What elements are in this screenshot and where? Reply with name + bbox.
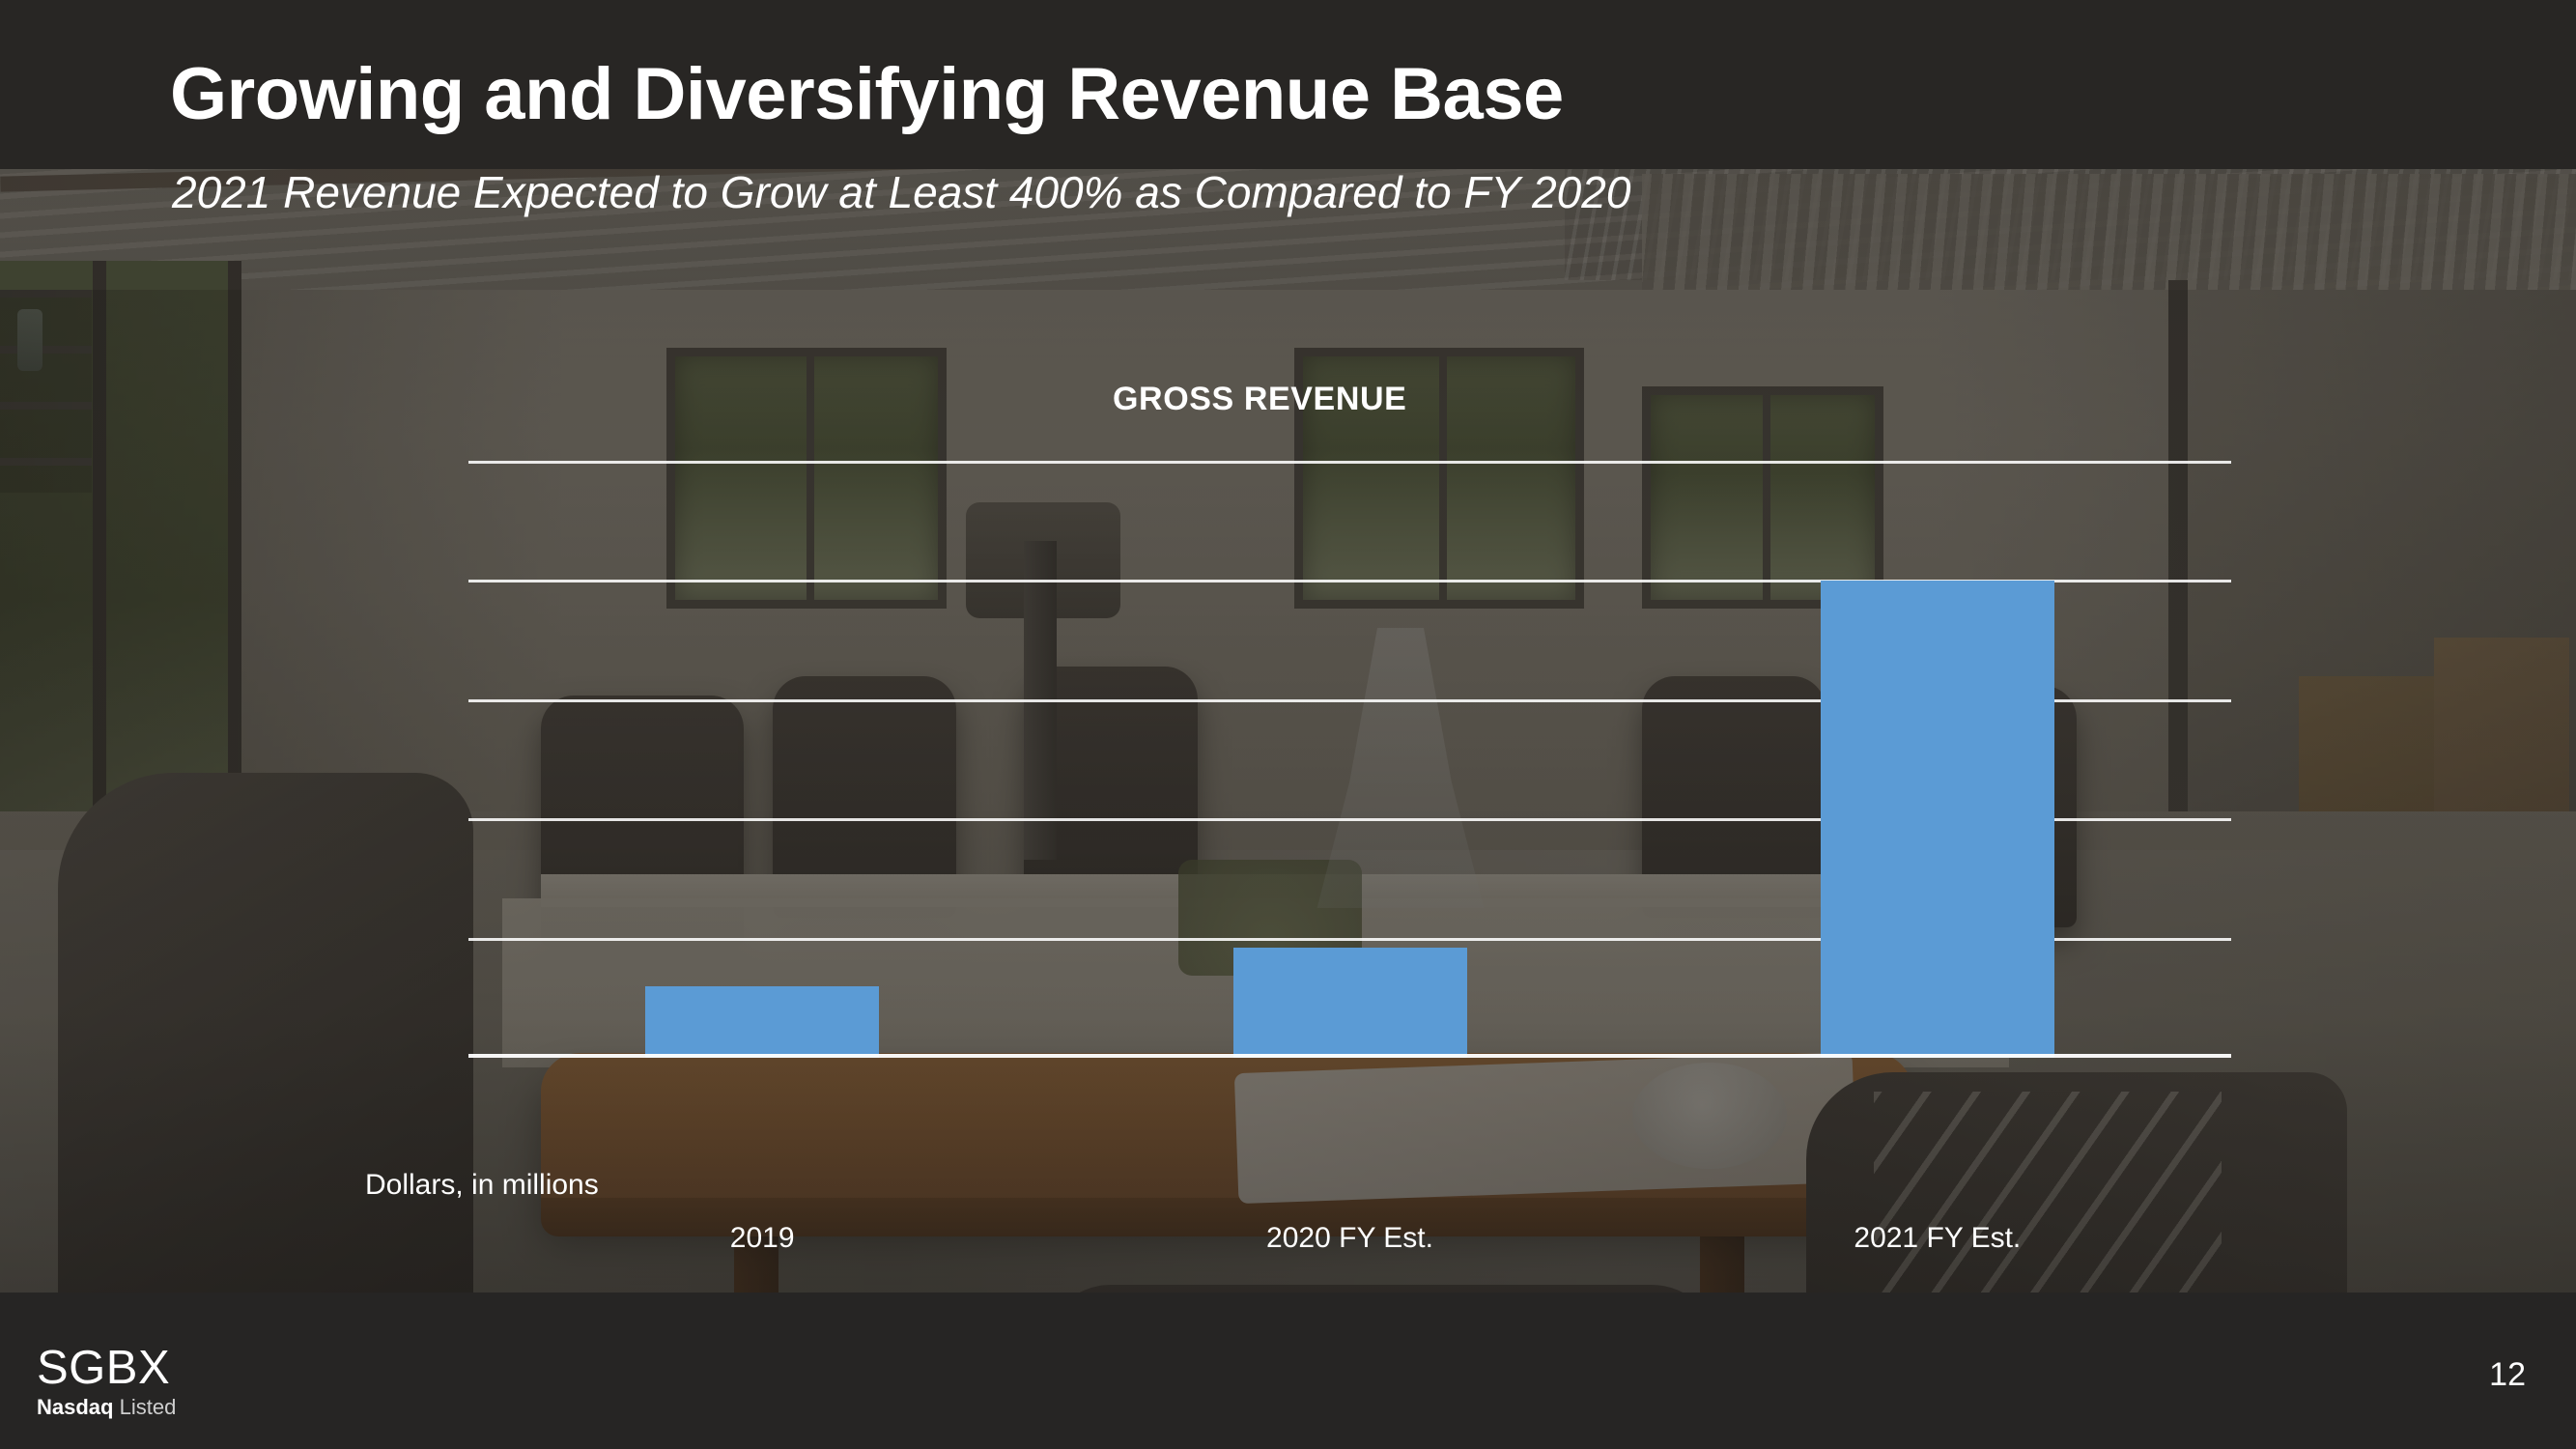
logo-listing: Listed <box>120 1395 177 1419</box>
chart-baseline-axis <box>468 1054 2231 1058</box>
x-tick-label: 2019 <box>730 1222 795 1255</box>
bar-2019[interactable] <box>645 986 879 1058</box>
slide: Growing and Diversifying Revenue Base 20… <box>0 0 2576 1449</box>
slide-content: Growing and Diversifying Revenue Base 20… <box>0 0 2576 1449</box>
x-tick-label: 2020 FY Est. <box>1266 1222 1433 1255</box>
logo-exchange: Nasdaq <box>37 1395 113 1419</box>
bar-2021-fy-est-[interactable] <box>1821 581 2054 1058</box>
company-logo: SGBX Nasdaq Listed <box>37 1345 176 1420</box>
x-tick-label: 2021 FY Est. <box>1854 1222 2021 1255</box>
page-title: Growing and Diversifying Revenue Base <box>170 58 1564 131</box>
logo-ticker: SGBX <box>37 1345 176 1391</box>
chart-units-note: Dollars, in millions <box>365 1169 599 1202</box>
gross-revenue-bar-chart: GROSS REVENUE $25$20$15$10$5$0 20192020 … <box>0 319 2576 1169</box>
chart-plot-area: $25$20$15$10$5$0 20192020 FY Est.2021 FY… <box>468 462 2231 1058</box>
logo-exchange-line: Nasdaq Listed <box>37 1395 176 1420</box>
chart-title: GROSS REVENUE <box>1113 381 1406 418</box>
bar-2020-fy-est-[interactable] <box>1233 948 1467 1058</box>
page-subtitle: 2021 Revenue Expected to Grow at Least 4… <box>172 170 1630 214</box>
page-number: 12 <box>2489 1356 2526 1394</box>
gridline-25 <box>468 461 2231 464</box>
